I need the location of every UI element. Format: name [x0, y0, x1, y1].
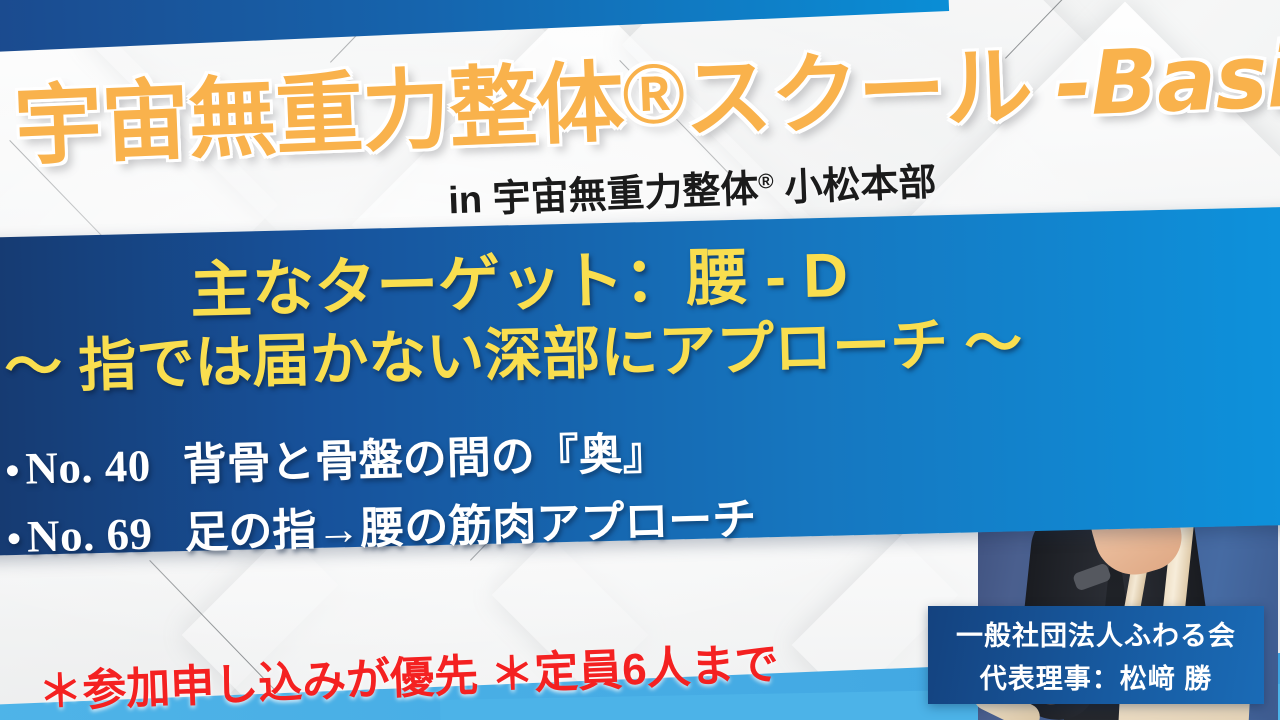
bullet-number: No. 69 — [26, 508, 153, 563]
subtitle-branch: 小松本部 — [773, 162, 937, 210]
bullet-number: No. 40 — [25, 440, 152, 495]
subtitle-prefix: in — [448, 179, 494, 223]
bullet-dot-icon: • — [5, 451, 20, 491]
title-school: スクール — [682, 36, 1034, 149]
credit-organization: 一般社団法人ふわる会 — [956, 614, 1236, 653]
bullet-text: 背骨と骨盤の間の『奥』 — [182, 417, 667, 493]
bullet-list: • No. 40 背骨と骨盤の間の『奥』 • No. 69 足の指→腰の筋肉アプ… — [4, 415, 757, 569]
subtitle-org: 宇宙無重力整体 — [492, 168, 759, 220]
bullet-dot-icon: • — [7, 519, 22, 559]
bullet-text: 足の指→腰の筋肉アプローチ — [184, 483, 757, 561]
subtitle-registered-icon: ® — [758, 170, 774, 194]
poster-canvas: 宇宙無重力整体Ⓡスクール -Basic- in 宇宙無重力整体® 小松本部 主な… — [0, 0, 1280, 720]
title-level: -Basic- — [1053, 20, 1280, 136]
credit-representative: 代表理事：松﨑 勝 — [980, 657, 1213, 696]
list-item: • No. 69 足の指→腰の筋肉アプローチ — [6, 483, 757, 565]
organization-credit: 一般社団法人ふわる会 代表理事：松﨑 勝 — [928, 606, 1264, 704]
registered-mark-icon: Ⓡ — [621, 61, 685, 132]
